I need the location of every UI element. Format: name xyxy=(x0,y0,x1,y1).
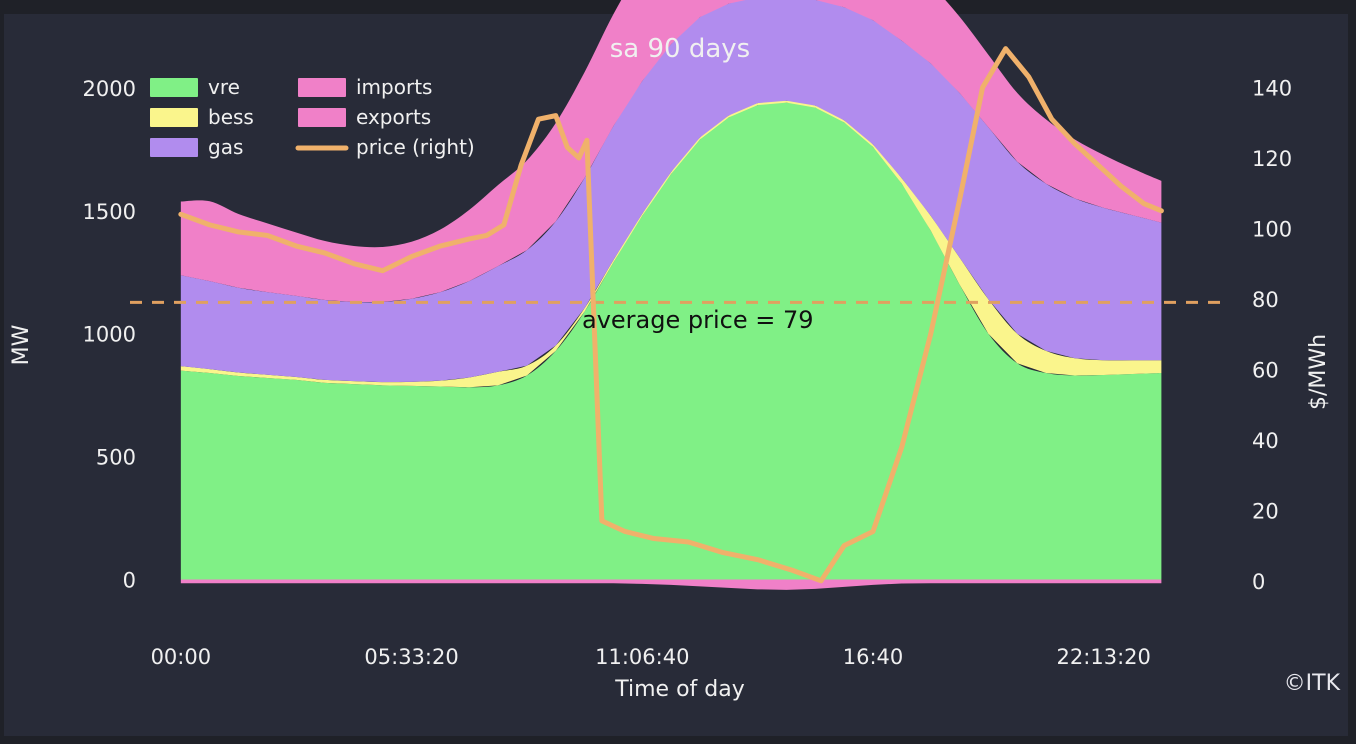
y-tick-label: 1500 xyxy=(83,200,136,224)
stacked-area-chart: 00:0005:33:2011:06:4016:4022:13:20 05001… xyxy=(0,0,1356,744)
y-tick-label: 0 xyxy=(123,569,136,593)
y-axis-label: MW xyxy=(9,324,34,365)
area-exports xyxy=(181,580,1162,590)
legend-swatch-imports xyxy=(298,78,346,97)
x-tick-label: 05:33:20 xyxy=(364,645,458,669)
y2-tick-label: 120 xyxy=(1252,147,1292,171)
x-tick-label: 16:40 xyxy=(843,645,904,669)
x-tick-label: 22:13:20 xyxy=(1057,645,1151,669)
x-tick-label: 00:00 xyxy=(151,645,212,669)
y-tick-label: 500 xyxy=(96,446,136,470)
y2-tick-label: 140 xyxy=(1252,76,1292,100)
y-tick-label: 2000 xyxy=(83,77,136,101)
y-tick-label: 1000 xyxy=(83,323,136,347)
legend-swatch-bess xyxy=(150,108,198,127)
watermark: ©ITK xyxy=(1284,671,1341,696)
x-tick-label: 11:06:40 xyxy=(595,645,689,669)
legend-swatch-gas xyxy=(150,138,198,157)
legend-label-imports: imports xyxy=(356,75,432,99)
y2-tick-label: 20 xyxy=(1252,499,1279,523)
y2-tick-label: 60 xyxy=(1252,358,1279,382)
legend-label-vre: vre xyxy=(208,75,240,99)
chart-root: 00:0005:33:2011:06:4016:4022:13:20 05001… xyxy=(0,0,1356,744)
legend-swatch-vre xyxy=(150,78,198,97)
x-axis: 00:0005:33:2011:06:4016:4022:13:20 xyxy=(151,645,1151,669)
chart-title: sa 90 days xyxy=(610,34,750,64)
y2-tick-label: 0 xyxy=(1252,570,1265,594)
legend-swatch-exports xyxy=(298,108,346,127)
y2-tick-label: 40 xyxy=(1252,429,1279,453)
x-axis-label: Time of day xyxy=(614,677,745,702)
legend-label-exports: exports xyxy=(356,105,431,129)
y2-tick-label: 100 xyxy=(1252,217,1292,241)
y-axis-right: 020406080100120140 xyxy=(1252,76,1292,593)
y-axis-right-label: $/MWh xyxy=(1306,334,1331,410)
y-axis-left: 0500100015002000 xyxy=(83,77,136,593)
y2-tick-label: 80 xyxy=(1252,288,1279,312)
legend-label-price (right): price (right) xyxy=(356,135,475,159)
chart-legend: vrebessgasimportsexportsprice (right) xyxy=(150,75,475,159)
legend-label-bess: bess xyxy=(208,105,254,129)
legend-label-gas: gas xyxy=(208,135,243,159)
average-price-annotation: average price = 79 xyxy=(582,306,814,334)
